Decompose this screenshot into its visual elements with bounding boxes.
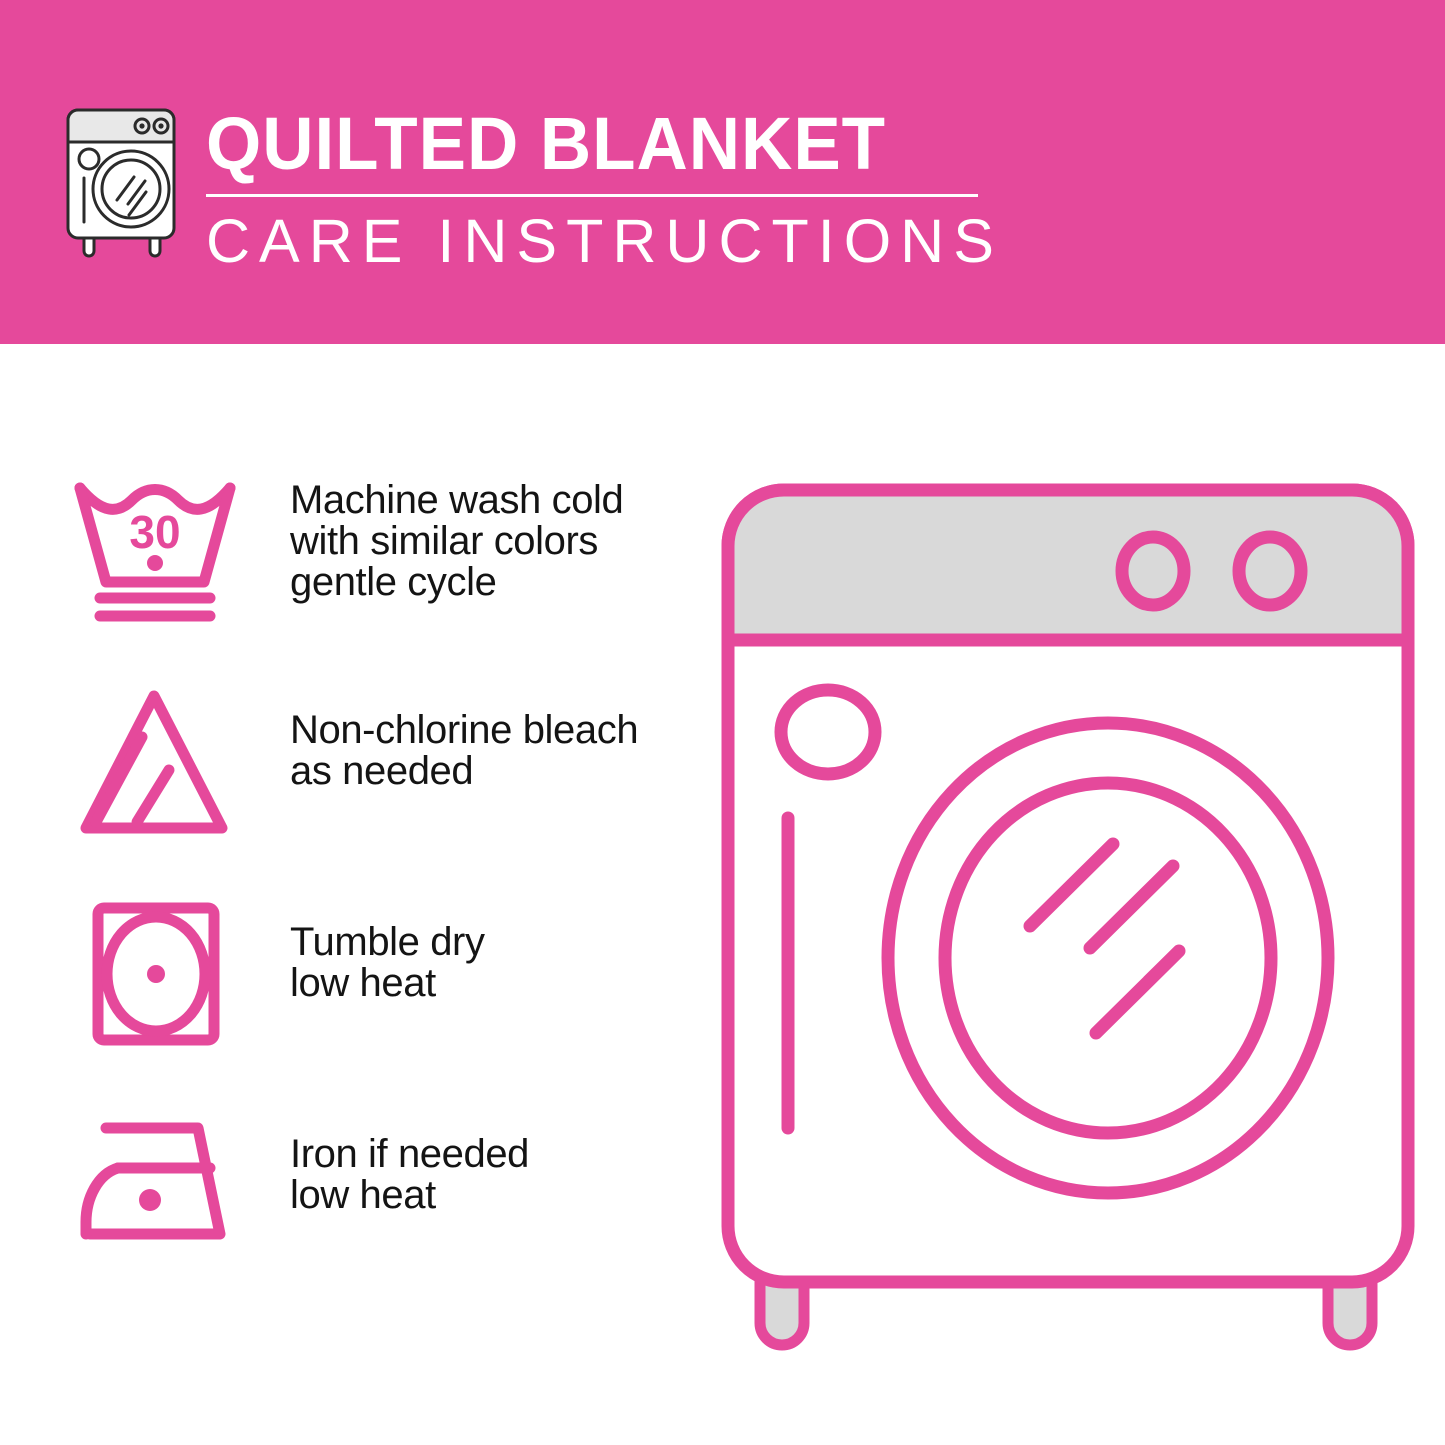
page-title: QUILTED BLANKET: [206, 104, 964, 184]
wash-tub-30-gentle-icon: 30: [70, 470, 240, 630]
detergent-port: [781, 690, 875, 774]
knob-left: [1122, 537, 1184, 605]
care-item-machine-wash: 30 Machine wash cold with similar colors…: [0, 470, 700, 682]
header-banner: QUILTED BLANKET CARE INSTRUCTIONS: [0, 0, 1445, 344]
care-instruction-list: 30 Machine wash cold with similar colors…: [0, 470, 700, 1318]
care-item-label-bleach: Non-chlorine bleach as needed: [290, 710, 690, 792]
washing-machine-icon: [62, 104, 190, 259]
front-load-washing-machine-illustration: [718, 478, 1418, 1368]
non-chlorine-bleach-triangle-icon: [70, 682, 240, 842]
care-instructions-page: QUILTED BLANKET CARE INSTRUCTIONS: [0, 0, 1445, 1445]
care-item-label-tumble-dry: Tumble dry low heat: [290, 922, 690, 1004]
care-item-label-iron: Iron if needed low heat: [290, 1134, 690, 1216]
title-divider: [206, 194, 978, 197]
header-text-block: QUILTED BLANKET CARE INSTRUCTIONS: [206, 104, 996, 273]
iron-low-heat-icon: [70, 1106, 240, 1266]
wash-temperature-label: 30: [129, 506, 180, 558]
care-item-iron: Iron if needed low heat: [0, 1106, 700, 1318]
page-subtitle: CARE INSTRUCTIONS: [206, 209, 996, 273]
tumble-dry-low-icon: [70, 894, 240, 1054]
care-item-bleach: Non-chlorine bleach as needed: [0, 682, 700, 894]
care-item-label-machine-wash: Machine wash cold with similar colors ge…: [290, 480, 690, 603]
care-item-tumble-dry: Tumble dry low heat: [0, 894, 700, 1106]
knob-right: [1239, 537, 1301, 605]
